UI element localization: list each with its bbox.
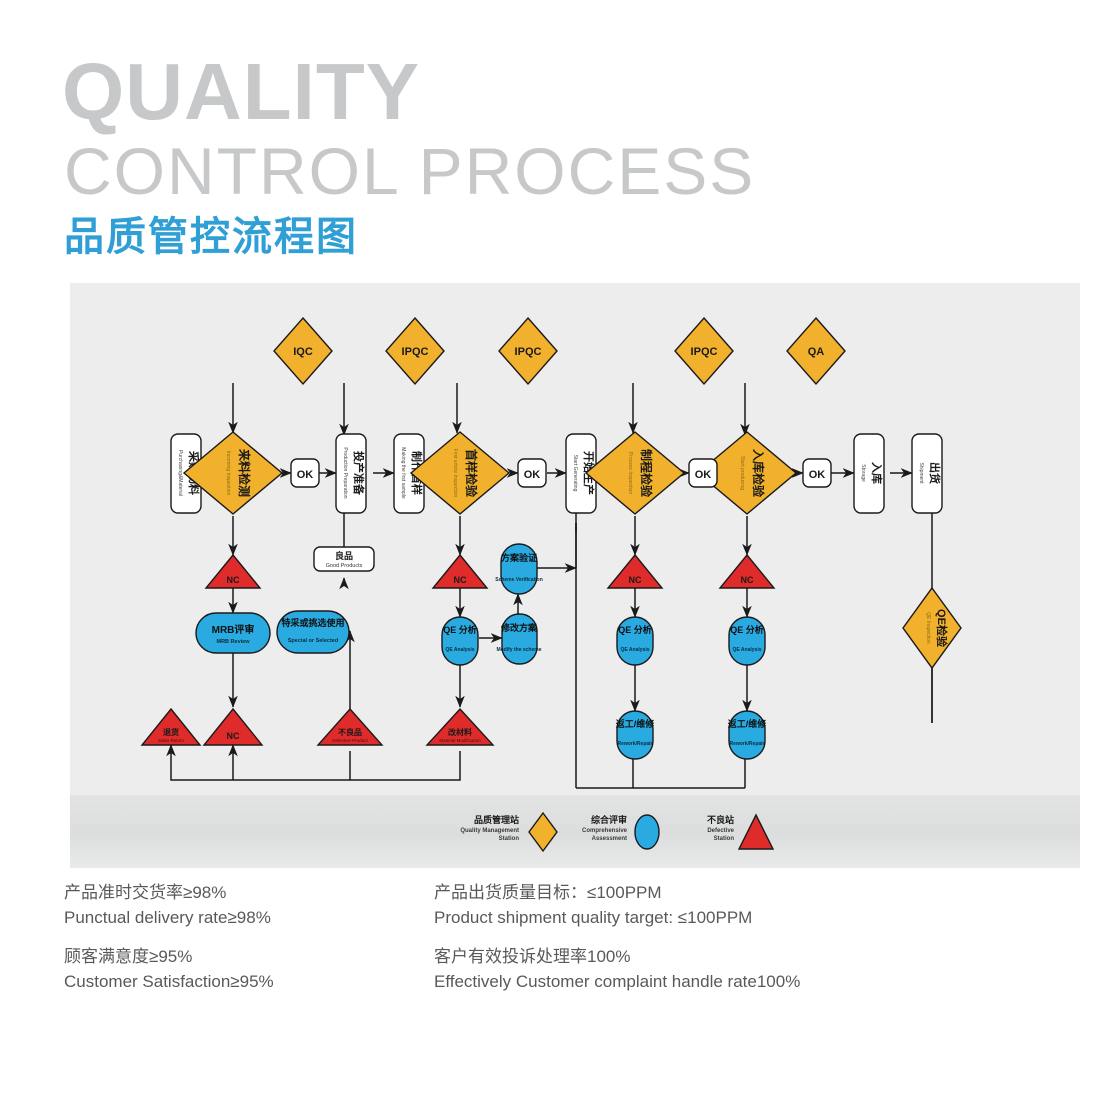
box-label-en: Making the first sample bbox=[400, 447, 406, 499]
legend-label-en-2: Station bbox=[714, 836, 735, 842]
box-label-en: Purchasing&Material bbox=[177, 450, 183, 496]
node-label-en: Scheme Verification bbox=[495, 577, 543, 583]
footer-en: Customer Satisfaction≥95% bbox=[64, 969, 274, 994]
legend-label-en-2: Assessment bbox=[592, 836, 627, 842]
nc-triangle-process[interactable]: NC bbox=[608, 555, 662, 588]
qc-station-label: IPQC bbox=[515, 346, 542, 358]
legend-label-cn: 不良站 bbox=[707, 814, 734, 825]
node-label-cn: 修改方案 bbox=[500, 622, 538, 633]
node-label-en: QE Analysis bbox=[446, 647, 475, 653]
title-chinese: 品质管控流程图 bbox=[64, 215, 358, 259]
diamond-first-article-inspection[interactable]: 首样检验 First article Inspection bbox=[411, 432, 509, 514]
triangle-label-en: Material Modification bbox=[439, 738, 481, 743]
box-label-en: Shipment bbox=[918, 462, 924, 484]
flowchart-svg: IQC IPQC IPQC IPQC QA 采购物料 bbox=[70, 283, 1080, 868]
node-label-en: Rework/Repair bbox=[729, 741, 764, 747]
good-products-label-cn: 良品 bbox=[335, 550, 353, 561]
defect-triangles-group: 退货 Sales Return 不良品 Defective Product 改材… bbox=[142, 709, 493, 745]
diamond-label-cn: 制程检验 bbox=[639, 449, 654, 498]
ok-node-2[interactable]: OK bbox=[518, 459, 546, 487]
nc-label: NC bbox=[741, 575, 754, 585]
box-label-en: Start Generating bbox=[572, 455, 578, 492]
footer-item-complaint-handling: 客户有效投诉处理率100% Effectively Customer compl… bbox=[434, 944, 800, 994]
triangle-label-en: Sales Return bbox=[158, 738, 185, 743]
triangle-label-en: Defective Product bbox=[332, 738, 368, 743]
node-label-cn: QE 分析 bbox=[443, 624, 477, 635]
box-label-en: Production Preparation bbox=[342, 447, 348, 498]
node-label-cn: 返工/维修 bbox=[728, 718, 768, 729]
nc-label: NC bbox=[454, 575, 467, 585]
nc-triangle-first-article[interactable]: NC bbox=[433, 555, 487, 588]
diamond-label-en: First article Inspection bbox=[452, 449, 458, 498]
node-label-cn: QE 分析 bbox=[730, 624, 764, 635]
diamond-label-cn: 来料检测 bbox=[237, 448, 252, 497]
footer-en: Product shipment quality target: ≤100PPM bbox=[434, 905, 752, 930]
page-header: QUALITY CONTROL PROCESS 品质管控流程图 bbox=[0, 0, 1100, 272]
node-label-cn: QE 分析 bbox=[618, 624, 652, 635]
ok-node-3[interactable]: OK bbox=[689, 459, 717, 487]
nc-label: NC bbox=[629, 575, 642, 585]
legend-triangle-icon bbox=[739, 815, 773, 849]
node-label-cn: 返工/维修 bbox=[616, 718, 656, 729]
flow-plain-lines bbox=[171, 523, 932, 788]
ok-label: OK bbox=[297, 469, 314, 481]
qc-station-label: IPQC bbox=[691, 346, 718, 358]
diamond-label-cn: 入库检验 bbox=[751, 449, 766, 498]
footer-cn: 产品准时交货率≥98% bbox=[64, 880, 271, 905]
legend-label-cn: 综合评审 bbox=[591, 814, 627, 825]
ok-node-1[interactable]: OK bbox=[291, 459, 319, 487]
nc-triangle-incoming[interactable]: NC bbox=[206, 555, 260, 588]
qc-station-ipqc-2[interactable]: IPQC bbox=[499, 318, 557, 384]
node-modify-scheme[interactable]: 修改方案 Modify the scheme bbox=[496, 614, 541, 664]
triangle-label-cn: 退货 bbox=[163, 727, 179, 737]
flowchart-panel: IQC IPQC IPQC IPQC QA 采购物料 bbox=[70, 283, 1080, 868]
box-good-products[interactable]: 良品 Good Products bbox=[314, 547, 374, 571]
legend-label-en-1: Comprehensive bbox=[582, 828, 628, 834]
node-qe-analysis-2[interactable]: QE 分析 QE Analysis bbox=[617, 617, 653, 665]
triangle-sales-return[interactable]: 退货 Sales Return bbox=[142, 709, 200, 745]
nc-triangle-mrb-out[interactable]: NC bbox=[204, 709, 262, 745]
footer-item-shipment-quality: 产品出货质量目标：≤100PPM Product shipment qualit… bbox=[434, 880, 752, 930]
footer-cn: 顾客满意度≥95% bbox=[64, 944, 274, 969]
title-control-process: CONTROL PROCESS bbox=[64, 138, 755, 204]
triangle-defective-product[interactable]: 不良品 Defective Product bbox=[318, 709, 382, 745]
qc-station-ipqc-3[interactable]: IPQC bbox=[675, 318, 733, 384]
node-mrb-review[interactable]: MRB评审 MRB Review bbox=[196, 613, 270, 653]
legend-label-en-2: Station bbox=[499, 836, 520, 842]
diamond-label-en: Incoming Inspection bbox=[225, 451, 231, 496]
nc-triangle-storage[interactable]: NC bbox=[720, 555, 774, 588]
node-label-en: Rework/Repair bbox=[617, 741, 652, 747]
node-special-or-selected[interactable]: 特采或挑选使用 Special or Selected bbox=[277, 611, 349, 653]
footer-en: Punctual delivery rate≥98% bbox=[64, 905, 271, 930]
legend-diamond-icon bbox=[529, 813, 557, 851]
legend-label-cn: 品质管理站 bbox=[474, 814, 519, 825]
footer-en: Effectively Customer complaint handle ra… bbox=[434, 969, 800, 994]
diamond-process-inspection[interactable]: 制程检验 Process Inspection bbox=[586, 432, 684, 514]
node-label-en: MRB Review bbox=[216, 639, 250, 645]
node-rework-repair-1[interactable]: 返工/维修 Rework/Repair bbox=[616, 711, 656, 759]
node-qe-analysis-3[interactable]: QE 分析 QE Analysis bbox=[729, 617, 765, 665]
box-production-preparation[interactable]: 投产准备 Production Preparation bbox=[336, 434, 366, 513]
flow-connectors bbox=[171, 383, 932, 768]
qc-station-ipqc-1[interactable]: IPQC bbox=[386, 318, 444, 384]
nc-label: NC bbox=[227, 575, 240, 585]
box-storage[interactable]: 入库 Storage bbox=[854, 434, 884, 513]
footer-item-punctual-delivery: 产品准时交货率≥98% Punctual delivery rate≥98% bbox=[64, 880, 271, 930]
ok-label: OK bbox=[695, 469, 712, 481]
legend-label-en-1: Quality Management bbox=[460, 828, 519, 834]
node-label-en: Modify the scheme bbox=[496, 647, 541, 653]
node-label-cn: 特采或挑选使用 bbox=[281, 617, 344, 628]
title-quality: QUALITY bbox=[62, 52, 420, 132]
qc-station-iqc[interactable]: IQC bbox=[274, 318, 332, 384]
diamond-label-en: Start producing bbox=[739, 456, 745, 490]
box-shipment[interactable]: 出货 Shipment bbox=[912, 434, 942, 513]
legend-item-quality-management-station: 品质管理站 Quality Management Station bbox=[460, 813, 557, 851]
box-label-cn: 出货 bbox=[928, 462, 942, 484]
nc-label: NC bbox=[227, 731, 240, 741]
node-label-en: QE Analysis bbox=[621, 647, 650, 653]
node-scheme-verification[interactable]: 方案验证 Scheme Verification bbox=[495, 544, 543, 594]
footer-item-customer-satisfaction: 顾客满意度≥95% Customer Satisfaction≥95% bbox=[64, 944, 274, 994]
node-label-cn: MRB评审 bbox=[212, 623, 255, 636]
box-label-cn: 入库 bbox=[870, 462, 884, 484]
diamond-label-en: QE Inspection bbox=[925, 612, 931, 644]
diamond-label-cn: QE检验 bbox=[935, 609, 949, 648]
footer-cn: 客户有效投诉处理率100% bbox=[434, 944, 800, 969]
node-label-en: Special or Selected bbox=[288, 638, 338, 644]
qc-station-qa[interactable]: QA bbox=[787, 318, 845, 384]
diamond-label-cn: 首样检验 bbox=[464, 449, 479, 498]
good-products-label-en: Good Products bbox=[326, 563, 363, 569]
triangle-label-cn: 不良品 bbox=[338, 727, 362, 737]
diamond-qe-inspection[interactable]: QE检验 QE Inspection bbox=[903, 588, 961, 668]
node-label-en: QE Analysis bbox=[733, 647, 762, 653]
ok-node-4[interactable]: OK bbox=[803, 459, 831, 487]
box-label-cn: 投产准备 bbox=[352, 451, 366, 496]
node-label-cn: 方案验证 bbox=[501, 552, 537, 563]
diamond-label-en: Process Inspection bbox=[627, 452, 633, 494]
legend-ellipse-icon bbox=[635, 815, 659, 849]
triangle-label-cn: 改材料 bbox=[448, 727, 472, 737]
qc-station-label: IPQC bbox=[402, 346, 429, 358]
qc-station-label: IQC bbox=[293, 346, 313, 358]
qc-station-group: IQC IPQC IPQC IPQC QA bbox=[274, 318, 845, 384]
review-nodes-group: MRB评审 MRB Review 特采或挑选使用 Special or Sele… bbox=[196, 544, 767, 759]
qc-station-label: QA bbox=[808, 346, 825, 358]
node-qe-analysis-1[interactable]: QE 分析 QE Analysis bbox=[442, 617, 478, 665]
triangle-material-modification[interactable]: 改材料 Material Modification bbox=[427, 709, 493, 745]
legend-group: 品质管理站 Quality Management Station 综合评审 Co… bbox=[460, 813, 773, 851]
ok-label: OK bbox=[809, 469, 826, 481]
footer-targets: 产品准时交货率≥98% Punctual delivery rate≥98% 产… bbox=[0, 872, 1100, 1022]
box-label-en: Storage bbox=[860, 464, 866, 482]
node-rework-repair-2[interactable]: 返工/维修 Rework/Repair bbox=[728, 711, 768, 759]
footer-cn: 产品出货质量目标：≤100PPM bbox=[434, 880, 752, 905]
legend-label-en-1: Defective bbox=[707, 828, 734, 834]
ok-label: OK bbox=[524, 469, 541, 481]
legend-item-comprehensive-assessment: 综合评审 Comprehensive Assessment bbox=[582, 814, 659, 849]
legend-item-defective-station: 不良站 Defective Station bbox=[707, 814, 773, 849]
